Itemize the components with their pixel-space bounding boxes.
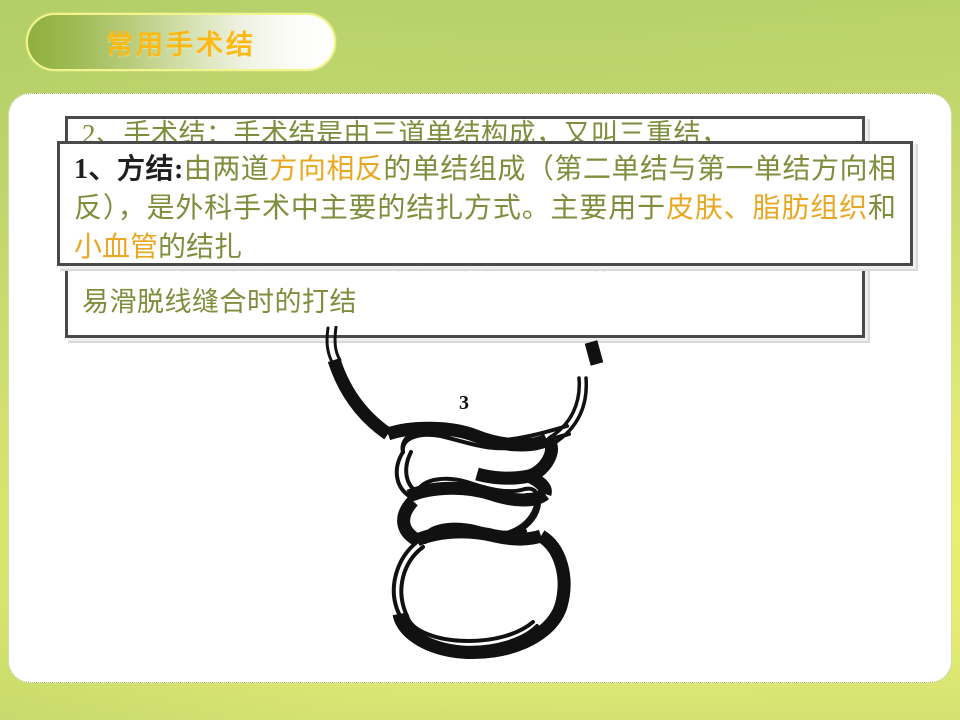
front-text-segment-highlight: 方向相反: [269, 154, 383, 185]
background-text-line: 易滑脱线缝合时的打结: [82, 281, 852, 323]
front-text-lead-label: 1、方结:: [74, 154, 183, 185]
front-text-segment: 由两道: [183, 154, 269, 185]
knot-step-number: 3: [459, 392, 469, 415]
front-text-body: 1、方结:由两道方向相反的单结组成（第二单结与第一单结方向相反），是外科手术中主…: [74, 150, 896, 267]
front-text-segment-highlight: 小血管: [74, 232, 158, 263]
front-text-segment-highlight: 皮肤、脂肪组织: [666, 193, 868, 224]
slide-canvas: 常用手术结 2、手术结：手术结是由三道单结构成，又叫三重结， 第一道与第二道方向…: [0, 0, 960, 720]
content-panel: 2、手术结：手术结是由三道单结构成，又叫三重结， 第一道与第二道方向相反，第三道…: [8, 93, 952, 683]
surgical-knot-illustration: 3: [291, 326, 661, 676]
front-text-segment: 和: [868, 193, 896, 224]
slide-title-banner: 常用手术结: [26, 13, 336, 71]
front-text-segment: 的结扎: [158, 232, 242, 263]
front-text-box[interactable]: 1、方结:由两道方向相反的单结组成（第二单结与第一单结方向相反），是外科手术中主…: [57, 141, 913, 266]
knot-diagram-svg: [291, 326, 661, 676]
page-title: 常用手术结: [106, 23, 256, 62]
